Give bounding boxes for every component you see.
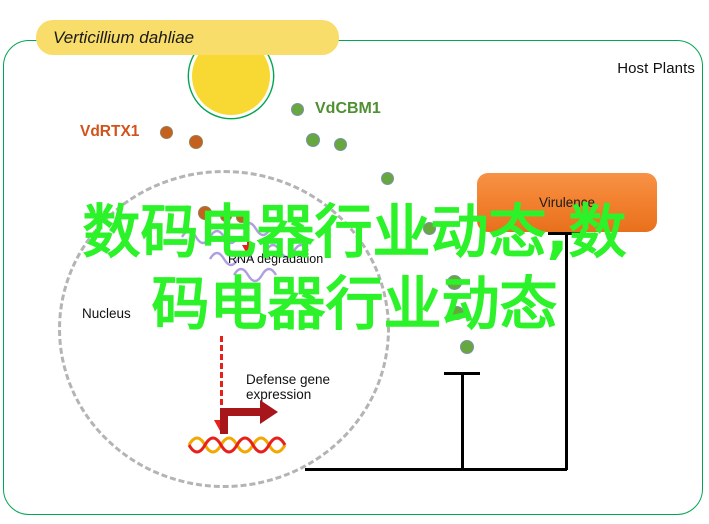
virulence-cap-line	[548, 232, 584, 235]
effector-dot-vdcbm1	[450, 306, 464, 320]
effector-dot-vdcbm1	[306, 133, 320, 147]
virulence-label: Virulence	[539, 195, 595, 210]
inhibition-riser-line	[461, 372, 464, 469]
defense-gene-line-1: Defense gene	[246, 372, 330, 387]
effector-dot-vdcbm1	[447, 275, 462, 290]
bottom-connector-line	[305, 468, 567, 471]
effector-dot-vdcbm1	[381, 172, 394, 185]
effector-dot-vdrtx1	[189, 135, 203, 149]
rna-strands-icon	[180, 215, 330, 285]
effector-dot-vdcbm1	[291, 103, 304, 116]
rna-degradation-arrow-shaft	[247, 215, 249, 248]
rna-degradation-label: RNA degradation	[228, 252, 323, 266]
effector-dot-vdcbm1	[334, 138, 347, 151]
effector-dots-layer	[0, 0, 709, 524]
virulence-box: Virulence	[477, 173, 657, 232]
figure-canvas: Host Plants Nucleus Verticillium dahliae…	[0, 0, 709, 524]
effector-dot-vdrtx1	[160, 126, 173, 139]
inhibition-tbar-line	[444, 372, 480, 375]
effector-dot-vdcbm1	[460, 340, 474, 354]
effector-dot-vdcbm1	[423, 222, 436, 235]
virulence-stem-line	[565, 232, 568, 470]
dna-helix-icon	[186, 430, 296, 460]
